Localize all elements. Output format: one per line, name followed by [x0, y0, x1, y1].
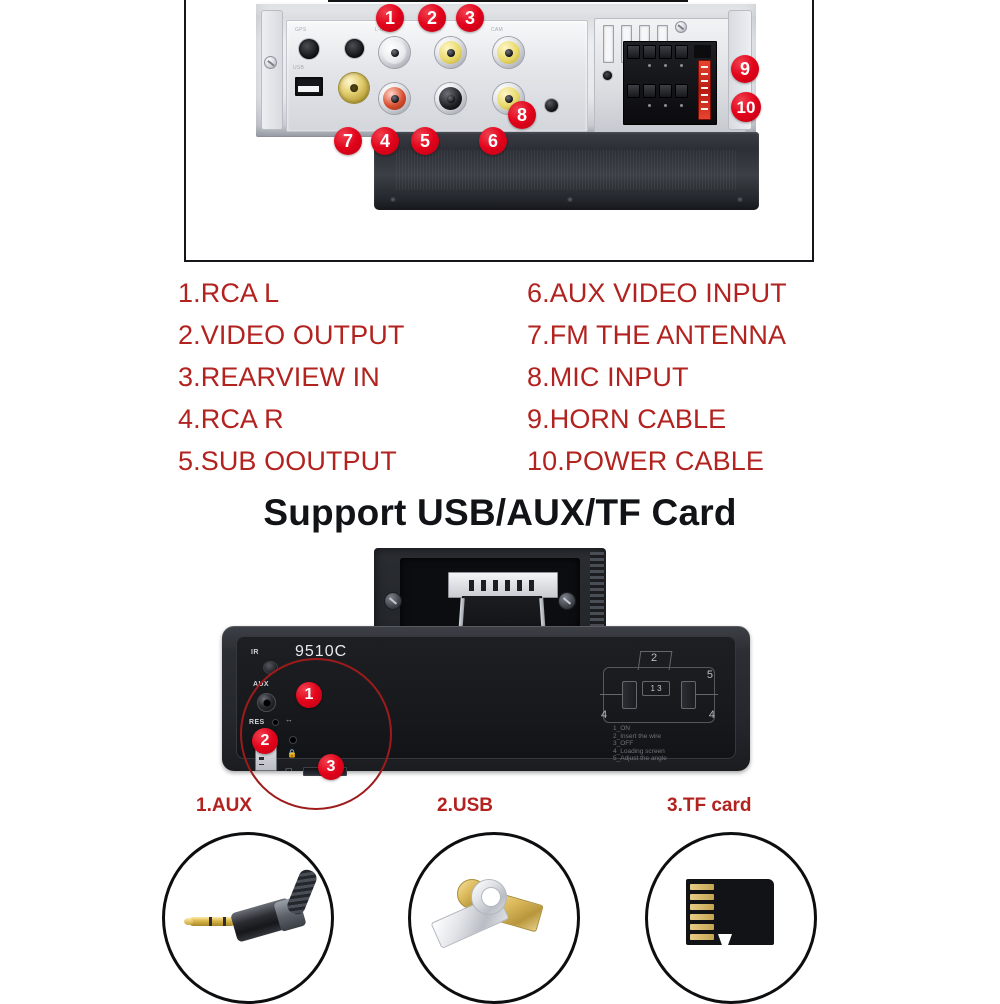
silkscreen-gps: GPS	[295, 27, 306, 33]
diagram-num-left-bottom: 4	[601, 709, 607, 721]
diagram-center-label: 1 3	[642, 681, 670, 696]
callout-badge-10: 10	[731, 92, 761, 122]
diagram-step-4: 4_Loading screen	[613, 748, 717, 756]
harness-blank-block	[694, 45, 711, 58]
jack-plate: GPS USB L-OUT A/V CAM	[286, 20, 588, 132]
callout-badge-8: 8	[508, 101, 536, 129]
diagram-step-1: 1_ON	[613, 725, 717, 733]
chassis-screw-left	[264, 56, 277, 69]
diagram-num-right-bottom: 4	[709, 709, 715, 721]
callout-badge-9: 9	[731, 55, 759, 83]
harness-plate-hole	[603, 71, 612, 80]
rear-panel-photo: GPS USB L-OUT A/V CAM	[256, 0, 756, 224]
diagram-step-2: 2_Insert the wire	[613, 733, 717, 741]
rca-jack-r-out	[379, 83, 410, 114]
legend-item-6: 6.AUX VIDEO INPUT	[527, 272, 787, 314]
unit-callout-badge-3: 3	[318, 754, 344, 780]
callout-badge-3: 3	[456, 4, 484, 32]
harness-plate-screw-top	[675, 21, 687, 33]
ir-label: IR	[251, 649, 259, 656]
power-fuse-strip	[698, 60, 711, 120]
rca-jack-sub-out	[435, 83, 466, 114]
rca-jack-video-out	[435, 37, 466, 68]
legend-item-4: 4.RCA R	[178, 398, 404, 440]
mic-input-jack	[545, 99, 558, 112]
legend-item-7: 7.FM THE ANTENNA	[527, 314, 787, 356]
callout-badge-2: 2	[418, 4, 446, 32]
accessory-circle-tf-card	[645, 832, 817, 1004]
diagram-arrow-right	[696, 694, 718, 695]
diagram-num-top: 2	[651, 652, 657, 664]
legend-item-1: 1.RCA L	[178, 272, 404, 314]
legend-column-right: 6.AUX VIDEO INPUT 7.FM THE ANTENNA 8.MIC…	[527, 272, 787, 482]
diagram-chip-left	[622, 681, 637, 709]
rca-jack-l-out	[379, 37, 410, 68]
accessory-label-aux: 1.AUX	[196, 795, 252, 817]
unit-callout-badge-1: 1	[296, 682, 322, 708]
legend-item-8: 8.MIC INPUT	[527, 356, 787, 398]
gps-antenna-hole	[299, 39, 319, 59]
spare-hole	[345, 39, 364, 58]
legend-column-left: 1.RCA L 2.VIDEO OUTPUT 3.REARVIEW IN 4.R…	[178, 272, 404, 482]
unit-callout-badge-2: 2	[252, 728, 278, 754]
silkscreen-usb: USB	[293, 65, 304, 71]
diagram-chip-right	[681, 681, 696, 709]
legend-item-10: 10.POWER CABLE	[527, 440, 787, 482]
legend-item-9: 9.HORN CABLE	[527, 398, 787, 440]
legend-item-3: 3.REARVIEW IN	[178, 356, 404, 398]
harness-plate	[594, 18, 746, 134]
diagram-step-list: 1_ON 2_Insert the wire 3_OFF 4_Loading s…	[613, 725, 717, 763]
accessory-circle-aux	[162, 832, 334, 1004]
accessory-label-tf-card: 3.TF card	[667, 795, 751, 817]
diagram-step-3: 3_OFF	[613, 740, 717, 748]
callout-badge-4: 4	[371, 127, 399, 155]
vent-slot	[603, 25, 614, 63]
callout-badge-5: 5	[411, 127, 439, 155]
callout-badge-7: 7	[334, 127, 362, 155]
callout-badge-6: 6	[479, 127, 507, 155]
callout-badge-1: 1	[376, 4, 404, 32]
bracket-screw-right	[558, 592, 576, 610]
rear-usb-port	[295, 77, 323, 96]
rca-jack-rearview-in	[493, 37, 524, 68]
fm-antenna-jack	[339, 73, 369, 103]
legend-item-2: 2.VIDEO OUTPUT	[178, 314, 404, 356]
diagram-step-5: 5_Adjust the angle	[613, 755, 717, 763]
instruction-diagram: 2 5 1 3 4 4 1_ON 2_Insert the wire 3_OFF…	[599, 651, 717, 763]
ffc-connector	[448, 572, 558, 598]
diagram-arrow-left	[600, 694, 622, 695]
chassis-body: GPS USB L-OUT A/V CAM	[256, 2, 756, 137]
support-heading: Support USB/AUX/TF Card	[0, 492, 1000, 534]
silkscreen-cam: CAM	[491, 27, 503, 33]
accessory-label-usb: 2.USB	[437, 795, 493, 817]
iso-wiring-harness	[623, 41, 717, 125]
legend-item-5: 5.SUB OOUTPUT	[178, 440, 404, 482]
bracket-screw-left	[384, 592, 402, 610]
accessory-circle-usb	[408, 832, 580, 1004]
